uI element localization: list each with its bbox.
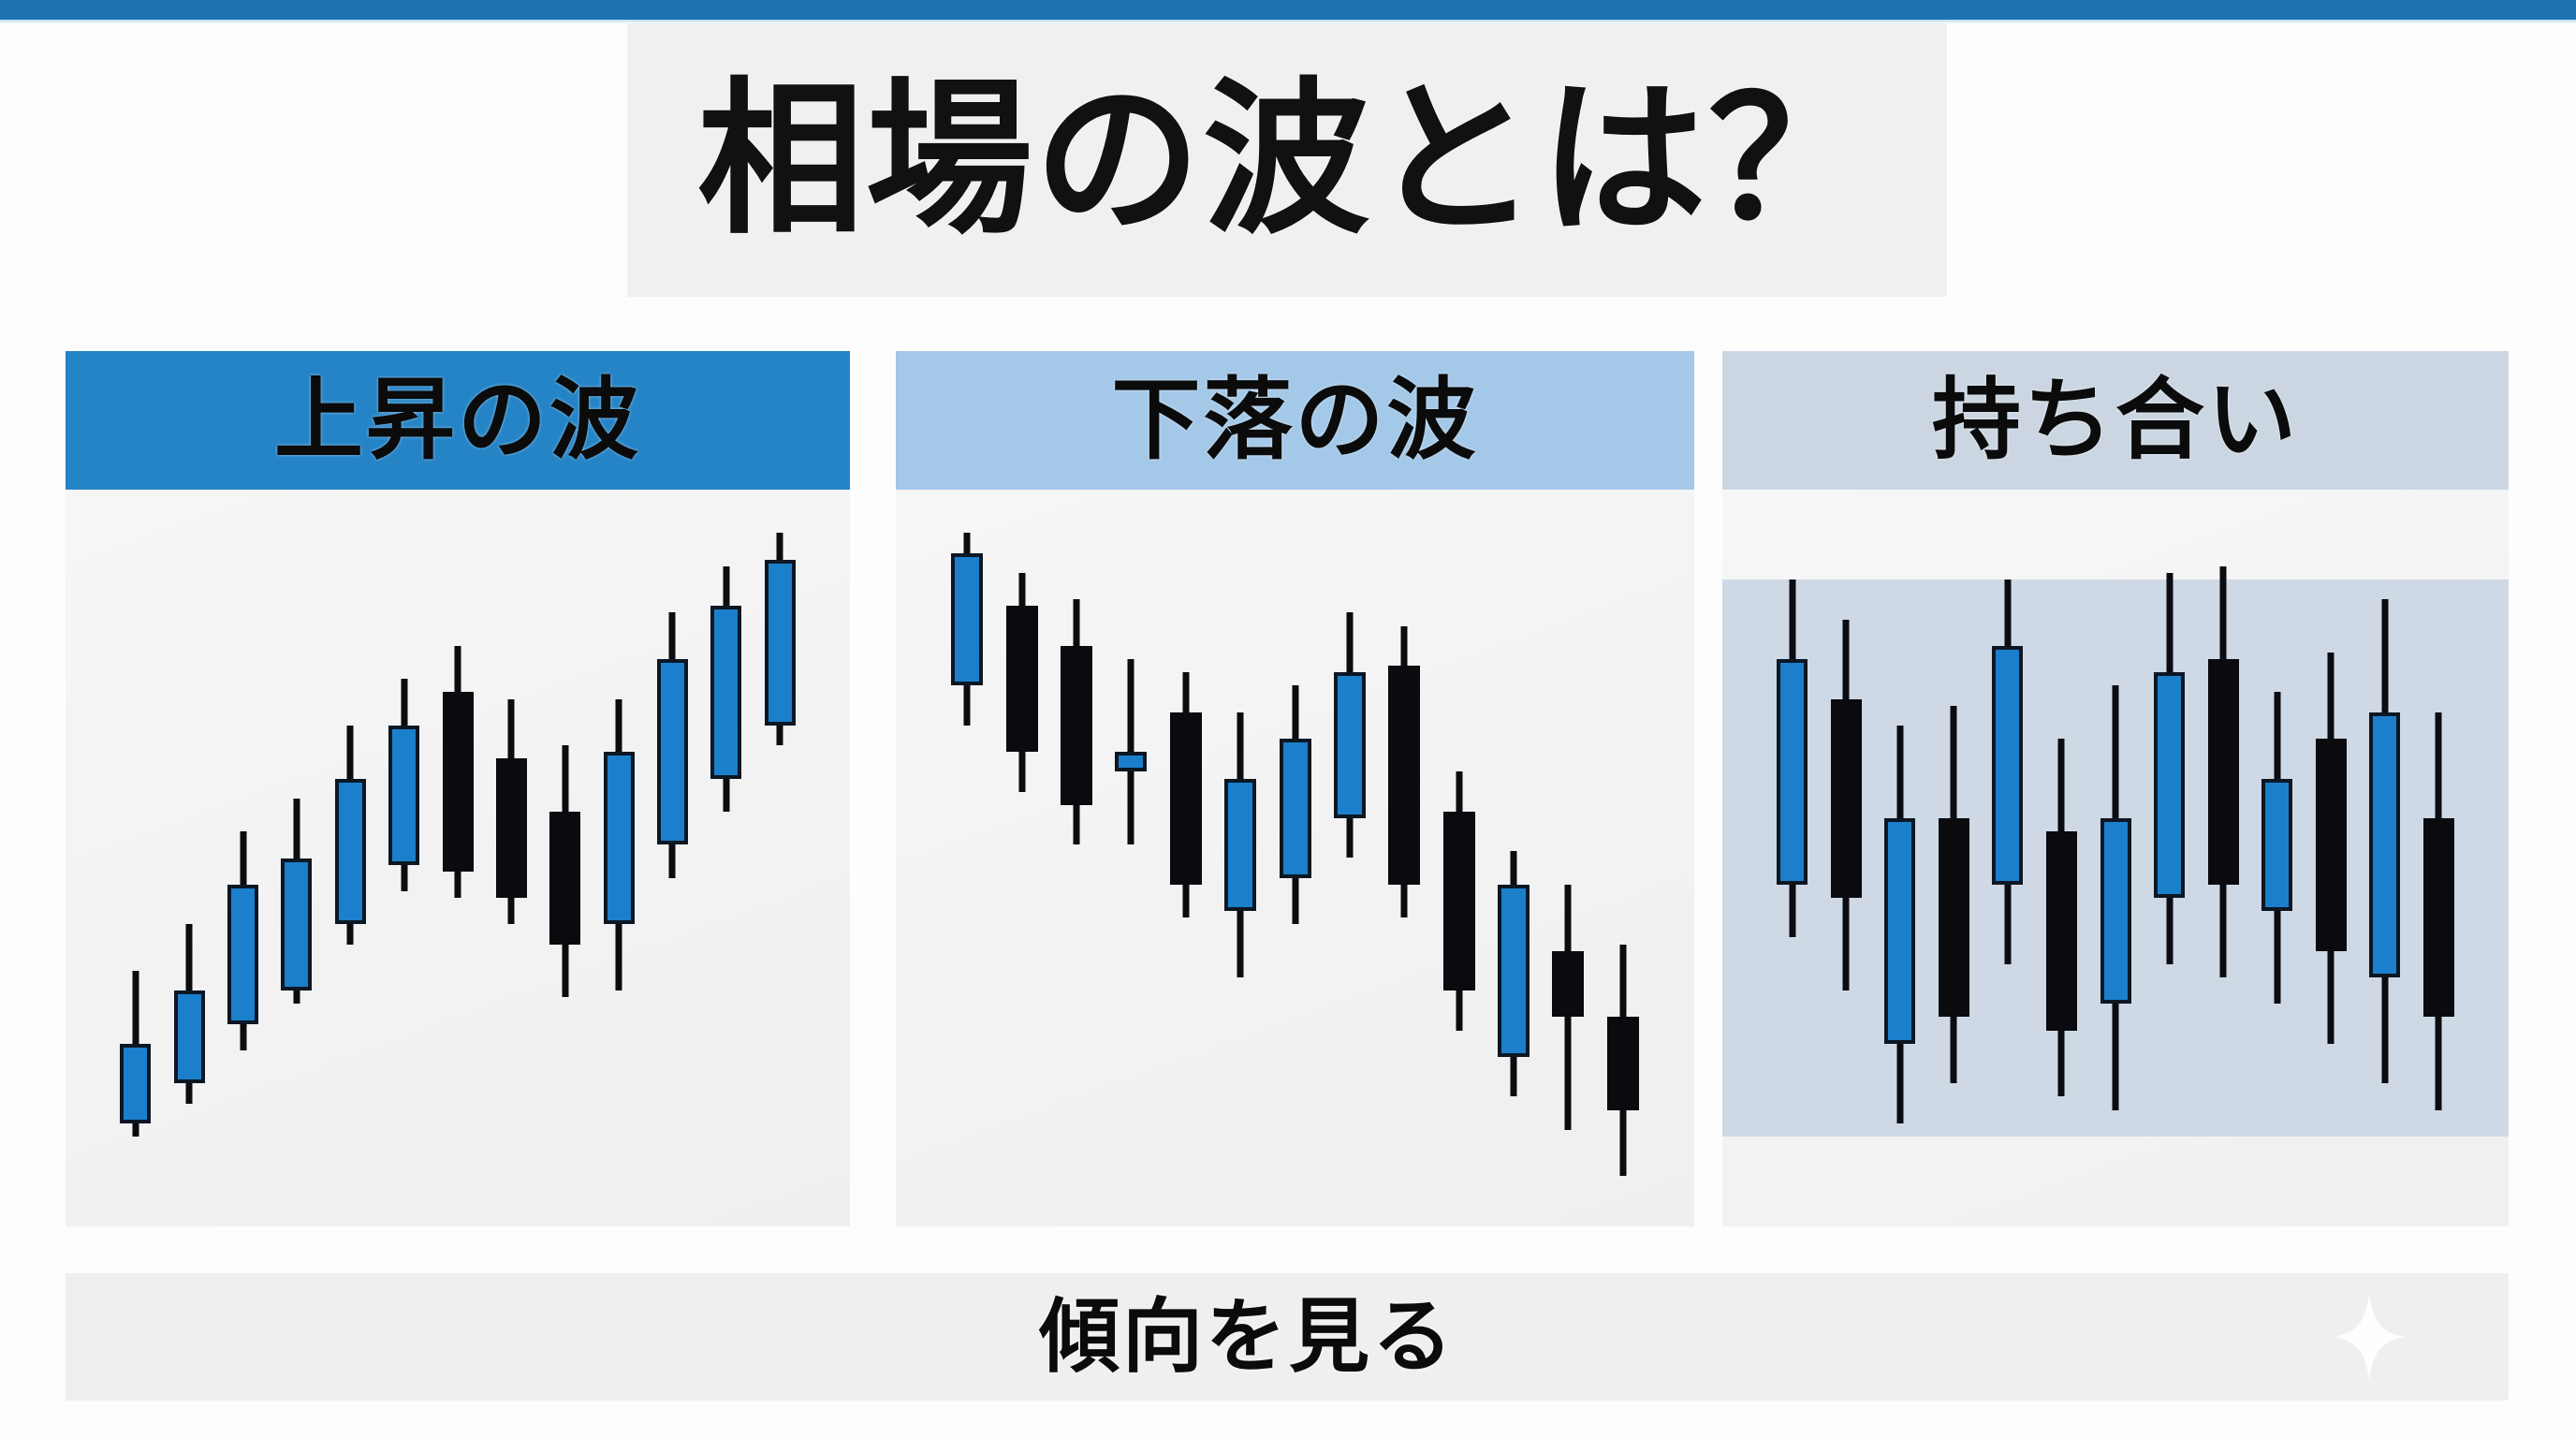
candlestick-downtrend-1 bbox=[951, 490, 983, 1226]
candlestick-uptrend-2 bbox=[174, 490, 205, 1226]
candle-body-up bbox=[1334, 672, 1366, 818]
candlestick-range-13 bbox=[2423, 490, 2454, 1226]
candlestick-uptrend-8 bbox=[496, 490, 527, 1226]
candle-body-up bbox=[2154, 672, 2185, 898]
candlestick-range-4 bbox=[1939, 490, 1969, 1226]
footer-caption-band: 傾向を見る bbox=[66, 1273, 2509, 1401]
candle-body-up bbox=[335, 779, 366, 925]
candlestick-range-9 bbox=[2208, 490, 2239, 1226]
panel-header-label: 上昇の波 bbox=[274, 376, 641, 465]
candle-body-up bbox=[1280, 739, 1311, 878]
candle-body-up bbox=[951, 553, 983, 686]
candle-body-up bbox=[1884, 818, 1915, 1044]
candlestick-uptrend-12 bbox=[710, 490, 741, 1226]
panel-uptrend[interactable]: 上昇の波 bbox=[66, 351, 850, 1226]
candlestick-downtrend-9 bbox=[1388, 490, 1420, 1226]
candle-body-up bbox=[2261, 779, 2292, 912]
candle-body-down bbox=[1170, 712, 1202, 885]
candlestick-range-7 bbox=[2100, 490, 2131, 1226]
candle-body-down bbox=[1831, 699, 1862, 898]
candle-body-up bbox=[1777, 659, 1808, 885]
candle-body-up bbox=[227, 885, 258, 1024]
candlestick-range-5 bbox=[1992, 490, 2023, 1226]
candlestick-downtrend-6 bbox=[1224, 490, 1256, 1226]
candlestick-uptrend-11 bbox=[657, 490, 688, 1226]
candle-body-up bbox=[2369, 712, 2400, 977]
candlestick-chart-downtrend bbox=[896, 490, 1694, 1226]
panel-header-range: 持ち合い bbox=[1722, 351, 2509, 490]
candlestick-range-3 bbox=[1884, 490, 1915, 1226]
candlestick-uptrend-4 bbox=[281, 490, 312, 1226]
candle-body-up bbox=[388, 726, 419, 865]
candle-body-up bbox=[281, 858, 312, 991]
candlestick-downtrend-5 bbox=[1170, 490, 1202, 1226]
candle-body-up bbox=[174, 990, 205, 1083]
candlestick-chart-range bbox=[1722, 490, 2509, 1226]
footer-caption: 傾向を見る bbox=[1039, 1297, 1456, 1377]
candle-body-up bbox=[1115, 752, 1147, 771]
panel-range[interactable]: 持ち合い bbox=[1722, 351, 2509, 1226]
panel-header-uptrend: 上昇の波 bbox=[66, 351, 850, 490]
panel-row: 上昇の波 下落の波 持ち合い bbox=[0, 351, 2576, 1226]
candlestick-downtrend-12 bbox=[1552, 490, 1584, 1226]
candlestick-range-10 bbox=[2261, 490, 2292, 1226]
candlestick-downtrend-4 bbox=[1115, 490, 1147, 1226]
panel-header-label: 下落の波 bbox=[1111, 376, 1478, 465]
candle-body-up bbox=[1498, 885, 1529, 1057]
candlestick-downtrend-11 bbox=[1498, 490, 1529, 1226]
panel-downtrend[interactable]: 下落の波 bbox=[896, 351, 1694, 1226]
candlestick-downtrend-3 bbox=[1061, 490, 1092, 1226]
candlestick-uptrend-13 bbox=[765, 490, 796, 1226]
candlestick-range-8 bbox=[2154, 490, 2185, 1226]
candlestick-uptrend-10 bbox=[604, 490, 635, 1226]
candle-body-down bbox=[2208, 659, 2239, 885]
candle-body-up bbox=[120, 1044, 151, 1123]
candle-body-up bbox=[604, 752, 635, 924]
candlestick-downtrend-10 bbox=[1443, 490, 1475, 1226]
candlestick-uptrend-5 bbox=[335, 490, 366, 1226]
candle-body-down bbox=[2423, 818, 2454, 1017]
candlestick-downtrend-13 bbox=[1607, 490, 1639, 1226]
candlestick-uptrend-1 bbox=[120, 490, 151, 1226]
candlestick-range-2 bbox=[1831, 490, 1862, 1226]
candle-body-down bbox=[1388, 666, 1420, 885]
candle-body-down bbox=[1939, 818, 1969, 1017]
candle-body-down bbox=[496, 758, 527, 898]
candle-body-down bbox=[1552, 951, 1584, 1018]
candle-body-down bbox=[2316, 739, 2347, 951]
sparkle-icon bbox=[2333, 1294, 2406, 1380]
panel-header-label: 持ち合い bbox=[1932, 376, 2299, 465]
candle-body-down bbox=[443, 692, 474, 871]
panel-header-downtrend: 下落の波 bbox=[896, 351, 1694, 490]
candle-body-down bbox=[1006, 606, 1038, 752]
candlestick-range-12 bbox=[2369, 490, 2400, 1226]
candle-body-up bbox=[710, 606, 741, 778]
candlestick-downtrend-2 bbox=[1006, 490, 1038, 1226]
candlestick-uptrend-3 bbox=[227, 490, 258, 1226]
candlestick-uptrend-6 bbox=[388, 490, 419, 1226]
candlestick-downtrend-8 bbox=[1334, 490, 1366, 1226]
candlestick-chart-uptrend bbox=[66, 490, 850, 1226]
candlestick-uptrend-7 bbox=[443, 490, 474, 1226]
candle-body-down bbox=[1443, 812, 1475, 990]
candle-body-up bbox=[2100, 818, 2131, 1004]
candle-body-down bbox=[1061, 646, 1092, 805]
candle-body-up bbox=[765, 560, 796, 726]
page-title-band: 相場の波とは？ bbox=[627, 23, 1947, 297]
candle-body-down bbox=[549, 812, 580, 945]
candlestick-uptrend-9 bbox=[549, 490, 580, 1226]
candlestick-range-11 bbox=[2316, 490, 2347, 1226]
candlestick-downtrend-7 bbox=[1280, 490, 1311, 1226]
candlestick-range-1 bbox=[1777, 490, 1808, 1226]
candle-body-down bbox=[2046, 831, 2077, 1030]
candle-body-up bbox=[1224, 779, 1256, 912]
candle-body-up bbox=[657, 659, 688, 844]
candlestick-range-6 bbox=[2046, 490, 2077, 1226]
candle-body-up bbox=[1992, 646, 2023, 885]
page-title: 相場の波とは？ bbox=[697, 77, 1877, 243]
candle-body-down bbox=[1607, 1017, 1639, 1109]
top-accent-bar bbox=[0, 0, 2576, 20]
